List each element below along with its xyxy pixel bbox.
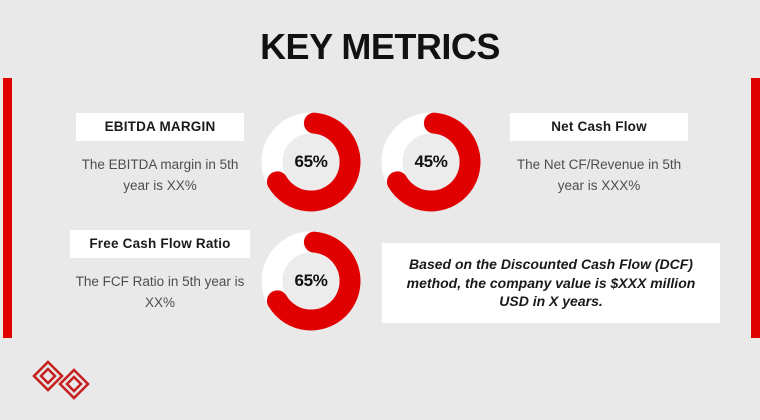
donut-value-ebitda-margin: 65%	[261, 112, 361, 212]
donut-chart-ebitda-margin: 65%	[261, 112, 361, 212]
brand-logo	[32, 358, 90, 402]
metric-label-net-cash-flow: Net Cash Flow	[510, 113, 688, 141]
donut-chart-net-cash-flow: 45%	[381, 112, 481, 212]
metric-label-free-cash-flow-ratio: Free Cash Flow Ratio	[70, 230, 250, 258]
dcf-callout-text: Based on the Discounted Cash Flow (DCF) …	[398, 255, 704, 311]
donut-value-net-cash-flow: 45%	[381, 112, 481, 212]
accent-bar-left	[3, 78, 12, 338]
metric-block-free-cash-flow-ratio: Free Cash Flow Ratio The FCF Ratio in 5t…	[70, 230, 250, 314]
accent-bar-right	[751, 78, 760, 338]
donut-value-free-cash-flow-ratio: 65%	[261, 231, 361, 331]
metric-label-ebitda-margin: EBITDA MARGIN	[76, 113, 244, 141]
metric-body-ebitda-margin: The EBITDA margin in 5th year is XX%	[76, 155, 244, 197]
metric-block-net-cash-flow: Net Cash Flow The Net CF/Revenue in 5th …	[510, 113, 688, 197]
page-title: KEY METRICS	[0, 26, 760, 68]
metric-body-net-cash-flow: The Net CF/Revenue in 5th year is XXX%	[510, 155, 688, 197]
metric-block-ebitda-margin: EBITDA MARGIN The EBITDA margin in 5th y…	[76, 113, 244, 197]
metric-body-free-cash-flow-ratio: The FCF Ratio in 5th year is XX%	[70, 272, 250, 314]
slide-canvas: KEY METRICS EBITDA MARGIN The EBITDA mar…	[0, 0, 760, 420]
double-diamond-logo-icon	[32, 358, 90, 402]
dcf-callout-box: Based on the Discounted Cash Flow (DCF) …	[382, 243, 720, 323]
donut-chart-free-cash-flow-ratio: 65%	[261, 231, 361, 331]
